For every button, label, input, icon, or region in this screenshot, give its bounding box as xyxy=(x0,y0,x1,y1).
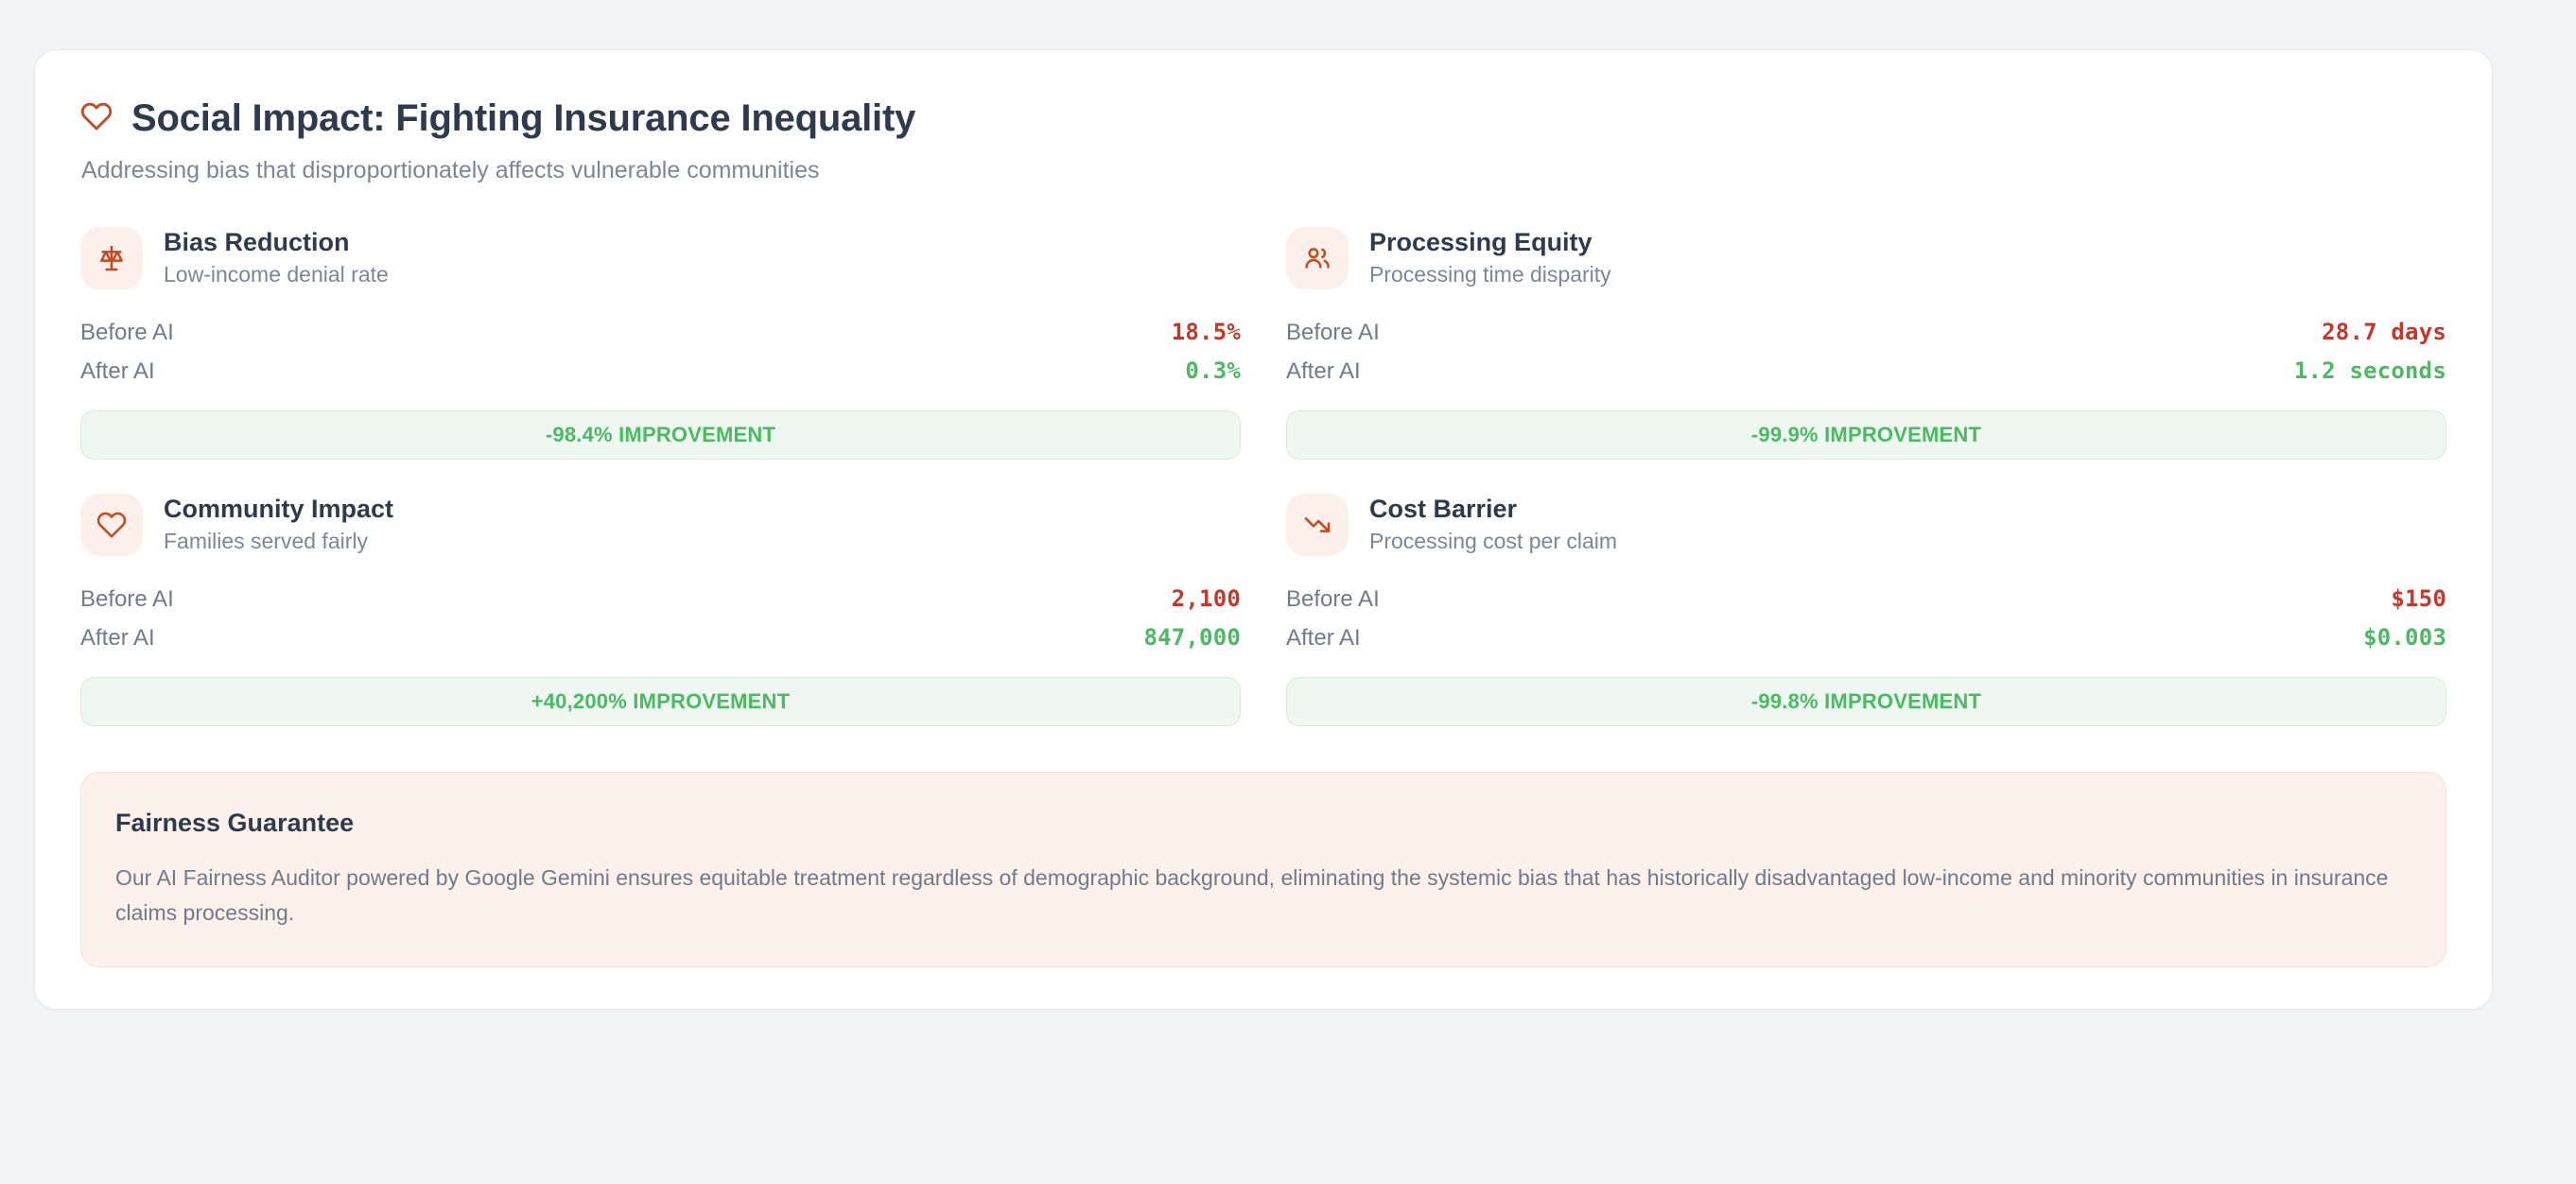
metric-header: Community Impact Families served fairly xyxy=(80,494,1241,556)
metric-card-cost-barrier: Cost Barrier Processing cost per claim B… xyxy=(1286,494,2446,726)
metric-header: Cost Barrier Processing cost per claim xyxy=(1286,494,2446,556)
fairness-guarantee-panel: Fairness Guarantee Our AI Fairness Audit… xyxy=(80,772,2446,968)
row-label-before: Before AI xyxy=(1286,320,1380,346)
card-subtitle: Addressing bias that disproportionately … xyxy=(81,155,2446,186)
improvement-badge: -99.8% IMPROVEMENT xyxy=(1286,677,2446,726)
row-value-before: 28.7 days xyxy=(2322,319,2446,345)
social-impact-card: Social Impact: Fighting Insurance Inequa… xyxy=(34,49,2493,1010)
metric-name: Cost Barrier xyxy=(1369,496,1617,522)
row-label-before: Before AI xyxy=(1286,586,1380,613)
metric-row-before: Before AI 18.5% xyxy=(80,313,1241,352)
metric-labels: Community Impact Families served fairly xyxy=(164,496,393,554)
metric-name: Bias Reduction xyxy=(164,229,389,255)
fairness-title: Fairness Guarantee xyxy=(115,809,2411,838)
fairness-body-text: Our AI Fairness Auditor powered by Googl… xyxy=(115,861,2411,932)
metric-description: Processing time disparity xyxy=(1369,263,1611,287)
metric-labels: Bias Reduction Low-income denial rate xyxy=(164,229,389,287)
title-row: Social Impact: Fighting Insurance Inequa… xyxy=(80,97,2446,139)
trending-down-icon xyxy=(1286,494,1349,556)
metric-description: Low-income denial rate xyxy=(164,263,389,287)
metric-rows: Before AI 18.5% After AI 0.3% xyxy=(80,313,1241,391)
row-label-after: After AI xyxy=(1286,358,1361,385)
metric-card-processing-equity: Processing Equity Processing time dispar… xyxy=(1286,227,2446,460)
row-value-after: 1.2 seconds xyxy=(2294,357,2446,384)
scales-balance-icon xyxy=(80,227,143,289)
row-value-before: 2,100 xyxy=(1172,585,1241,612)
heart-outline-icon xyxy=(80,494,143,556)
row-value-after: 0.3% xyxy=(1185,357,1241,384)
card-header: Social Impact: Fighting Insurance Inequa… xyxy=(80,97,2446,186)
row-label-before: Before AI xyxy=(80,586,174,613)
improvement-badge: -99.9% IMPROVEMENT xyxy=(1286,410,2446,460)
metric-row-after: After AI 847,000 xyxy=(80,618,1241,657)
metric-row-after: After AI $0.003 xyxy=(1286,618,2446,657)
row-label-after: After AI xyxy=(80,358,155,385)
row-label-after: After AI xyxy=(1286,625,1361,652)
row-value-after: 847,000 xyxy=(1143,624,1241,651)
metric-name: Processing Equity xyxy=(1369,229,1611,255)
metric-row-before: Before AI $150 xyxy=(1286,580,2446,618)
metric-labels: Processing Equity Processing time dispar… xyxy=(1369,229,1611,287)
row-label-after: After AI xyxy=(80,625,155,652)
metric-row-before: Before AI 28.7 days xyxy=(1286,313,2446,352)
metric-card-bias-reduction: Bias Reduction Low-income denial rate Be… xyxy=(80,227,1241,460)
users-people-icon xyxy=(1286,227,1349,289)
metric-row-after: After AI 0.3% xyxy=(80,352,1241,391)
metric-rows: Before AI 28.7 days After AI 1.2 seconds xyxy=(1286,313,2446,391)
metric-header: Processing Equity Processing time dispar… xyxy=(1286,227,2446,289)
metric-labels: Cost Barrier Processing cost per claim xyxy=(1369,496,1617,554)
metric-row-after: After AI 1.2 seconds xyxy=(1286,352,2446,391)
row-label-before: Before AI xyxy=(80,320,174,346)
metric-header: Bias Reduction Low-income denial rate xyxy=(80,227,1241,289)
row-value-after: $0.003 xyxy=(2363,624,2446,651)
metric-description: Families served fairly xyxy=(164,530,393,553)
metric-row-before: Before AI 2,100 xyxy=(80,580,1241,618)
improvement-badge: -98.4% IMPROVEMENT xyxy=(80,410,1241,460)
row-value-before: 18.5% xyxy=(1172,319,1241,345)
improvement-badge: +40,200% IMPROVEMENT xyxy=(80,677,1241,726)
row-value-before: $150 xyxy=(2391,585,2446,612)
heart-outline-icon xyxy=(80,100,113,137)
metric-card-community-impact: Community Impact Families served fairly … xyxy=(80,494,1241,726)
metric-rows: Before AI 2,100 After AI 847,000 xyxy=(80,580,1241,657)
page-title: Social Impact: Fighting Insurance Inequa… xyxy=(131,97,915,139)
metric-name: Community Impact xyxy=(164,496,393,522)
page-root: Social Impact: Fighting Insurance Inequa… xyxy=(0,0,2576,1184)
metric-rows: Before AI $150 After AI $0.003 xyxy=(1286,580,2446,657)
metric-description: Processing cost per claim xyxy=(1369,530,1617,553)
metrics-grid: Bias Reduction Low-income denial rate Be… xyxy=(80,227,2446,726)
